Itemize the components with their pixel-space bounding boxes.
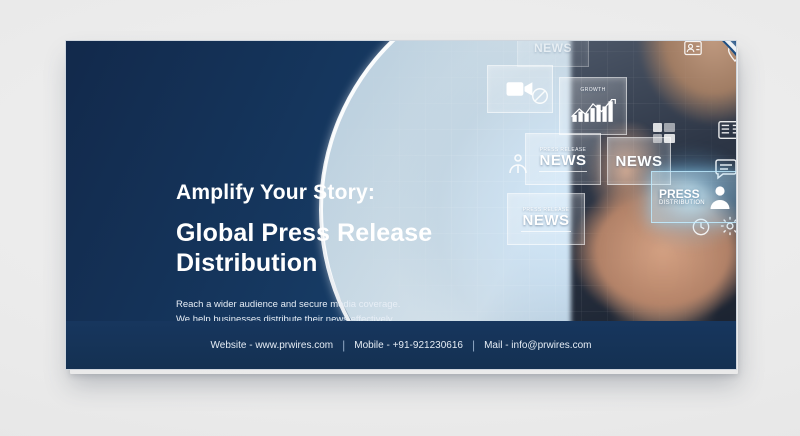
press-distribution-badge: PRESS DISTRIBUTION: [651, 171, 737, 223]
newspaper-icon: [717, 119, 737, 141]
card-kicker: PRESS RELEASE: [523, 207, 570, 213]
press-distribution-title: PRESS DISTRIBUTION: [659, 188, 705, 207]
card-press-release-news-1: PRESS RELEASE NEWS: [525, 133, 601, 185]
contact-footer-bar: Website - www.prwires.com | Mobile - +91…: [66, 321, 736, 369]
page-background: NEWS: [0, 0, 800, 436]
eyebrow-text: Amplify Your Story:: [176, 181, 476, 205]
card-video: [487, 65, 553, 113]
location-pin-icon: [725, 41, 737, 63]
page-title: Global Press Release Distribution: [176, 219, 466, 278]
headline-line-2: Distribution: [176, 249, 466, 279]
card-title: NEWS: [534, 42, 572, 54]
card-rule: [521, 231, 571, 232]
card-press-release-news-2: PRESS RELEASE NEWS: [507, 193, 585, 245]
headline-line-1: Global Press Release: [176, 219, 466, 249]
card-growth-chart: GROWTH: [559, 77, 627, 135]
person-icon: [709, 184, 731, 210]
promo-banner: NEWS: [65, 40, 737, 370]
card-kicker: PRESS RELEASE: [540, 147, 587, 153]
video-icon: [639, 40, 661, 45]
footer-mobile[interactable]: Mobile - +91-921230616: [354, 340, 463, 351]
footer-website[interactable]: Website - www.prwires.com: [211, 340, 334, 351]
badge-subtitle-text: DISTRIBUTION: [659, 200, 705, 206]
card-title: NEWS: [616, 154, 663, 169]
card-rule: [539, 171, 588, 172]
contact-card-icon: [683, 40, 703, 57]
footer-separator-1: |: [342, 338, 345, 352]
card-kicker: GROWTH: [580, 87, 605, 93]
footer-separator-2: |: [472, 338, 475, 352]
card-press-release-news-3: NEWS: [517, 40, 589, 67]
subtitle-line-1: Reach a wider audience and secure media …: [176, 297, 476, 312]
footer-mail[interactable]: Mail - info@prwires.com: [484, 340, 591, 351]
badge-title-text: PRESS: [659, 187, 700, 201]
card-title: NEWS: [523, 213, 570, 228]
card-title: NEWS: [540, 153, 587, 168]
